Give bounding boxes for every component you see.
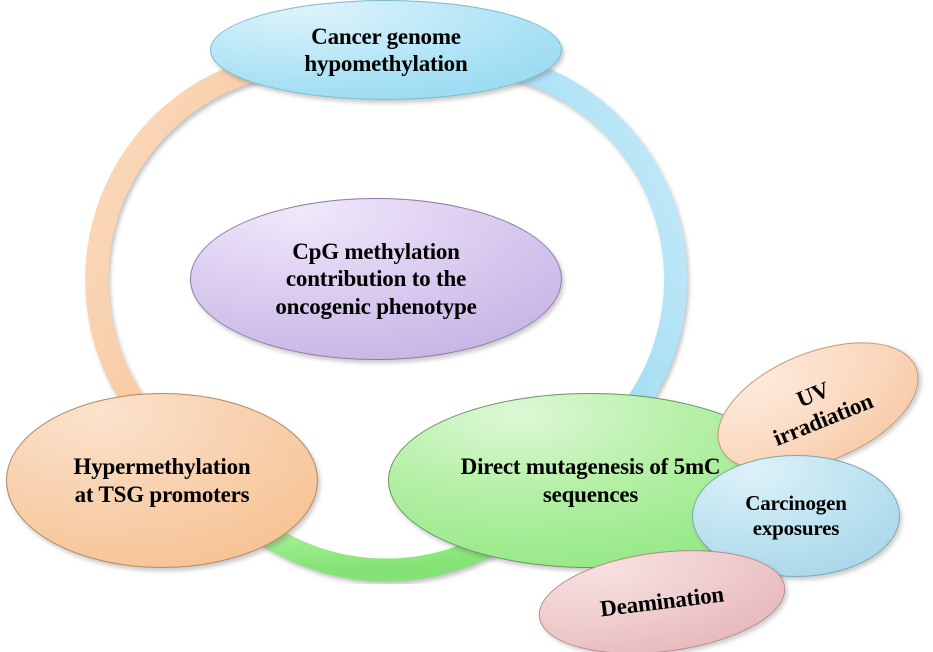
- node-direct-mutagenesis-5mc-sequences-line1: Direct mutagenesis of 5mC: [461, 454, 721, 479]
- center-node-label: CpG methylationcontribution to theoncoge…: [269, 238, 482, 319]
- node-hypermethylation-at-tsg-promoters-line1: Hypermethylation: [74, 454, 251, 479]
- center-node-cpg-methylation[interactable]: CpG methylationcontribution to theoncoge…: [190, 198, 562, 360]
- node-direct-mutagenesis-5mc-sequences-label: Direct mutagenesis of 5mCsequences: [455, 453, 727, 507]
- node-hypermethylation-at-tsg-promoters-label: Hypermethylationat TSG promoters: [68, 453, 257, 507]
- node-deamination-label: Deamination: [593, 580, 732, 624]
- center-node-line2: contribution to the: [286, 266, 466, 291]
- node-carcinogen-exposures-line1: Carcinogen: [745, 491, 846, 515]
- node-cancer-genome-hypomethylation-line1: Cancer genome: [311, 24, 461, 49]
- node-carcinogen-exposures-label: Carcinogenexposures: [739, 491, 852, 541]
- node-direct-mutagenesis-5mc-sequences-line2: sequences: [543, 482, 638, 507]
- cpg-methylation-cycle-diagram: CpG methylationcontribution to theoncoge…: [0, 0, 933, 652]
- node-cancer-genome-hypomethylation[interactable]: Cancer genomehypomethylation: [210, 0, 562, 100]
- center-node-line3: oncogenic phenotype: [275, 294, 476, 319]
- node-uv-irradiation-label: UVirradiation: [754, 360, 883, 454]
- node-carcinogen-exposures-line2: exposures: [753, 516, 840, 540]
- center-node-line1: CpG methylation: [292, 239, 460, 264]
- node-hypermethylation-at-tsg-promoters-line2: at TSG promoters: [75, 482, 250, 507]
- node-cancer-genome-hypomethylation-line2: hypomethylation: [304, 51, 467, 76]
- node-cancer-genome-hypomethylation-label: Cancer genomehypomethylation: [298, 23, 473, 77]
- node-hypermethylation-at-tsg-promoters[interactable]: Hypermethylationat TSG promoters: [6, 393, 318, 568]
